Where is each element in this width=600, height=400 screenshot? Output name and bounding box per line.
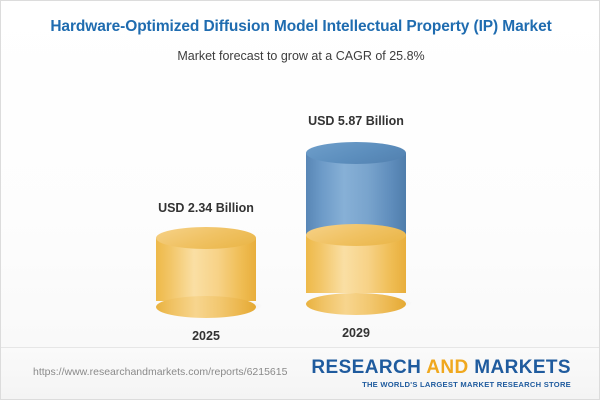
cylinder-mid-cap-2029 xyxy=(306,224,406,246)
cylinder-body-blue-2029 xyxy=(306,153,406,235)
cylinder-base-2029 xyxy=(306,293,406,315)
cylinder-2025[interactable] xyxy=(156,227,256,307)
brand-name: RESEARCH AND MARKETS xyxy=(311,358,571,377)
cylinder-top-cap-2025 xyxy=(156,227,256,249)
cylinder-top-cap-2029 xyxy=(306,142,406,164)
brand-research-text: RESEARCH xyxy=(311,357,426,378)
bar-group-2029: USD 5.87 Billion 2029 xyxy=(286,114,426,340)
value-label-2029: USD 5.87 Billion xyxy=(286,114,426,128)
chart-screenshot: Hardware-Optimized Diffusion Model Intel… xyxy=(0,0,600,400)
research-and-markets-logo[interactable]: RESEARCH AND MARKETS THE WORLD'S LARGEST… xyxy=(311,358,571,389)
brand-markets-text: MARKETS xyxy=(469,357,571,378)
category-label-2025: 2025 xyxy=(136,329,276,343)
value-label-2025: USD 2.34 Billion xyxy=(136,201,276,215)
chart-footer: https://www.researchandmarkets.com/repor… xyxy=(1,347,599,399)
report-url[interactable]: https://www.researchandmarkets.com/repor… xyxy=(33,366,287,378)
cylinder-2029[interactable] xyxy=(306,142,406,304)
category-label-2029: 2029 xyxy=(286,326,426,340)
brand-and-text: AND xyxy=(426,357,468,378)
cylinder-base-2025 xyxy=(156,296,256,318)
bar-group-2025: USD 2.34 Billion 2025 xyxy=(136,201,276,343)
plot-area: USD 2.34 Billion 2025 USD 5.87 Billion 2… xyxy=(1,1,600,348)
brand-tagline: THE WORLD'S LARGEST MARKET RESEARCH STOR… xyxy=(311,381,571,389)
